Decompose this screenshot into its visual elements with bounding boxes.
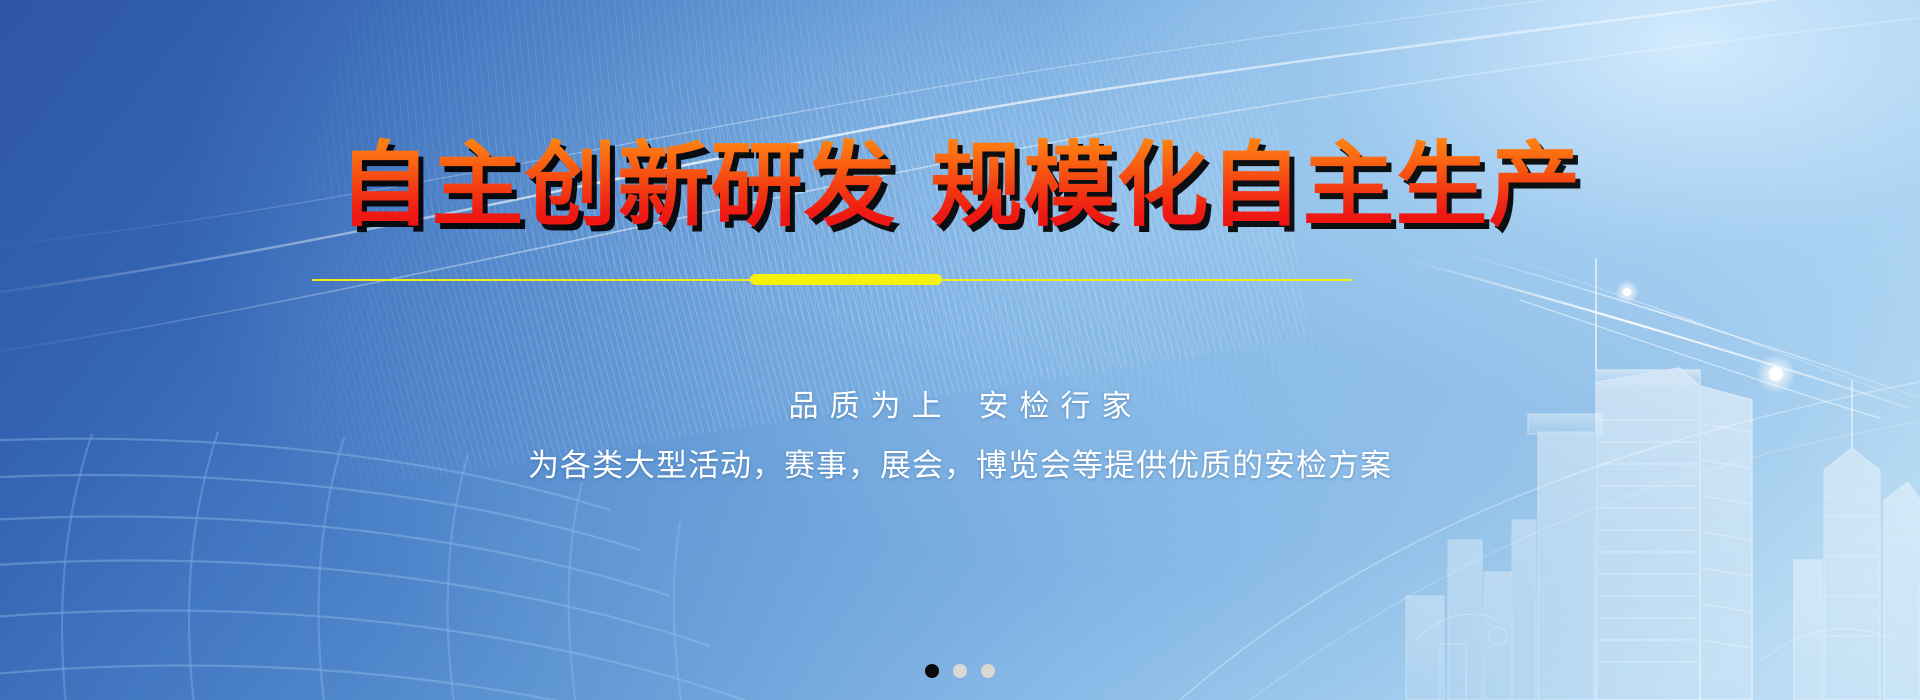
banner-content: 自主创新研发规模化自主生产 品质为上安检行家 为各类大型活动，赛事，展会，博览会… xyxy=(0,0,1920,700)
carousel-dot-1[interactable] xyxy=(925,664,939,678)
divider xyxy=(312,278,1352,281)
slogan: 品质为上安检行家 xyxy=(0,386,1920,428)
slogan-left: 品质为上 xyxy=(789,390,953,423)
hero-banner: 自主创新研发规模化自主生产 品质为上安检行家 为各类大型活动，赛事，展会，博览会… xyxy=(0,0,1920,700)
carousel-dot-2[interactable] xyxy=(953,664,967,678)
banner-description: 为各类大型活动，赛事，展会，博览会等提供优质的安检方案 xyxy=(0,440,1920,492)
slogan-right: 安检行家 xyxy=(979,390,1143,423)
page-title: 自主创新研发规模化自主生产 xyxy=(0,134,1920,238)
divider-accent-bar xyxy=(750,274,942,285)
carousel-indicators xyxy=(0,664,1920,678)
headline-part-2: 规模化自主生产 xyxy=(931,132,1582,239)
headline-part-1: 自主创新研发 xyxy=(338,132,896,239)
carousel-dot-3[interactable] xyxy=(981,664,995,678)
